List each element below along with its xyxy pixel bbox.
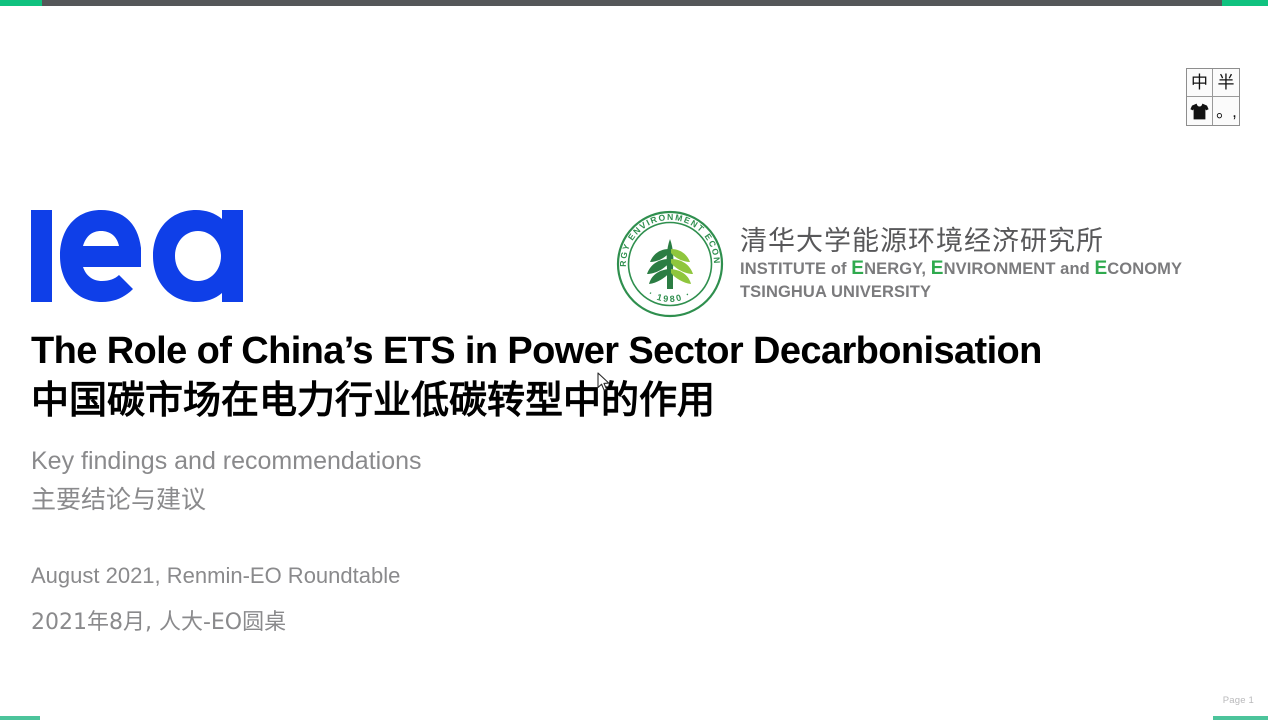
tsinghua-institute-name-block: 清华大学能源环境经济研究所 INSTITUTE of ENERGY, ENVIR… bbox=[740, 226, 1182, 302]
slide-date-english: August 2021, Renmin-EO Roundtable bbox=[31, 563, 400, 589]
progress-mark-top-right bbox=[1222, 0, 1268, 6]
tsinghua-institute-logo-block: ENERGY ENVIRONMENT ECONOMY · 1980 · 清华大学… bbox=[611, 205, 1182, 323]
tsinghua-3e-emblem-icon: ENERGY ENVIRONMENT ECONOMY · 1980 · bbox=[611, 205, 729, 323]
slide-subtitle-chinese: 主要结论与建议 bbox=[31, 485, 206, 515]
iea-logo bbox=[31, 210, 243, 302]
ime-width-mode-label: 半 bbox=[1218, 74, 1235, 91]
ime-language-mode-label: 中 bbox=[1191, 74, 1208, 91]
tsinghua-english-name-line1: INSTITUTE of ENERGY, ENVIRONMENT and ECO… bbox=[740, 257, 1182, 281]
slide-title-english: The Role of China’s ETS in Power Sector … bbox=[31, 331, 1042, 372]
ime-punctuation-mode-label: 。, bbox=[1216, 103, 1236, 120]
progress-mark-bottom-right bbox=[1213, 716, 1268, 720]
slide-subtitle-english: Key findings and recommendations bbox=[31, 446, 422, 476]
tsinghua-chinese-name: 清华大学能源环境经济研究所 bbox=[740, 226, 1182, 257]
ime-shape-mode-cell[interactable] bbox=[1187, 97, 1213, 125]
chinese-ime-status-indicator[interactable]: 中 半 。, bbox=[1186, 68, 1240, 126]
ime-punctuation-mode-cell[interactable]: 。, bbox=[1213, 97, 1239, 125]
ime-language-mode-cell[interactable]: 中 bbox=[1187, 69, 1213, 97]
top-chrome-bar bbox=[0, 0, 1268, 6]
page-number-label: Page 1 bbox=[1223, 695, 1254, 706]
progress-mark-bottom-left bbox=[0, 716, 40, 720]
tsinghua-english-name-line2: TSINGHUA UNIVERSITY bbox=[740, 282, 1182, 303]
slide-date-chinese: 2021年8月, 人大-EO圆桌 bbox=[31, 604, 286, 636]
shirt-icon bbox=[1190, 103, 1209, 120]
progress-mark-top-left bbox=[0, 0, 42, 6]
slide-title-chinese: 中国碳市场在电力行业低碳转型中的作用 bbox=[31, 380, 715, 421]
ime-width-mode-cell[interactable]: 半 bbox=[1213, 69, 1239, 97]
